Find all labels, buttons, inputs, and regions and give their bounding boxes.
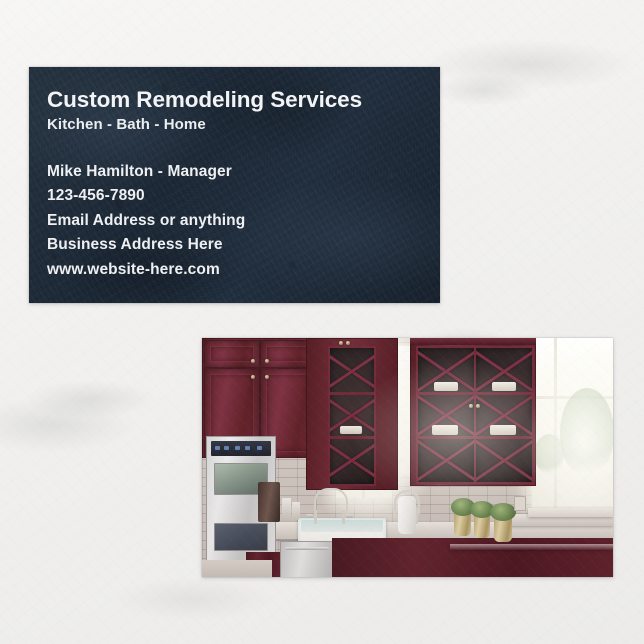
glass-front-cabinet-right (410, 338, 536, 486)
contact-name: Mike Hamilton - Manager (47, 160, 426, 184)
display-shelf-column (306, 338, 398, 490)
contact-website: www.website-here.com (47, 258, 426, 282)
business-card-front[interactable]: Custom Remodeling Services Kitchen - Bat… (29, 67, 440, 303)
contact-email: Email Address or anything (47, 209, 426, 233)
floor (202, 560, 272, 577)
faucet-stem-left (314, 510, 317, 524)
contact-address: Business Address Here (47, 233, 426, 257)
business-card-mockup-scene: Custom Remodeling Services Kitchen - Bat… (0, 0, 644, 644)
kitchen-photo (202, 338, 613, 577)
base-cabinet-highlight (450, 544, 613, 550)
display-shelf-glass (328, 346, 376, 486)
contact-phone: 123-456-7890 (47, 184, 426, 208)
coffee-maker (258, 482, 280, 522)
faucet-handle-right (346, 514, 353, 518)
business-name: Custom Remodeling Services (47, 87, 426, 113)
window-sill (528, 508, 613, 517)
wall-outlet (514, 496, 526, 511)
dishwasher (280, 541, 334, 577)
canister-1 (282, 498, 291, 520)
oven-window-lower (214, 523, 268, 551)
business-card-back[interactable] (202, 338, 613, 577)
herb-3 (490, 503, 516, 521)
contact-block: Mike Hamilton - Manager 123-456-7890 Ema… (47, 160, 426, 282)
business-tagline: Kitchen - Bath - Home (47, 114, 426, 137)
glass-cabinet-door-left (416, 346, 476, 484)
glass-cabinet-door-right (474, 346, 534, 484)
faucet-handle-left (306, 514, 313, 518)
faucet-stem-right (342, 510, 345, 524)
card-front-text-block: Custom Remodeling Services Kitchen - Bat… (47, 87, 426, 282)
window-right (532, 338, 613, 510)
canister-2 (292, 502, 300, 520)
paper-towel-roll (398, 496, 416, 534)
